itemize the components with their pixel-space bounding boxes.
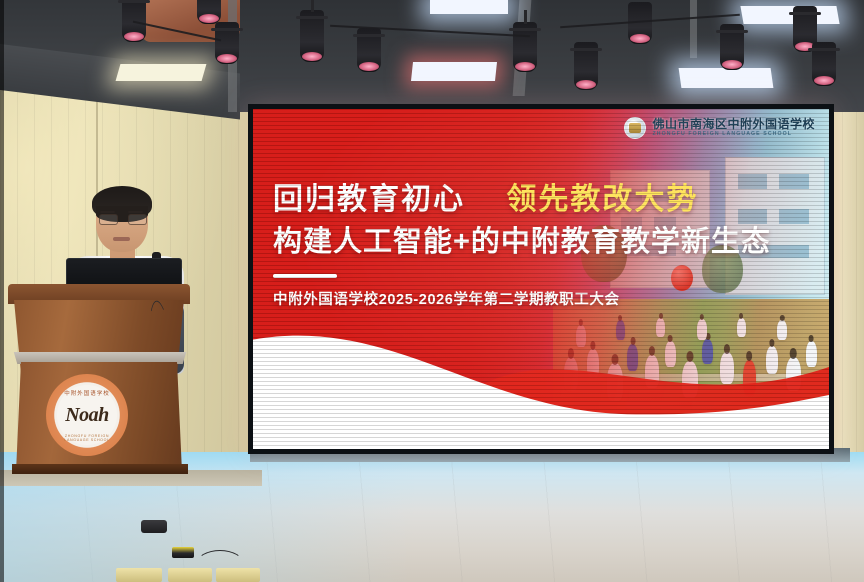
slide-title-line1-white: 回归教育初心: [273, 183, 465, 216]
stage-light-2: [215, 22, 239, 64]
school-crest-icon: [624, 117, 646, 139]
frame-left-vignette: [0, 0, 4, 582]
school-logo-text: 佛山市南海区中附外国语学校 ZHONGFU FOREIGN LANGUAGE S…: [652, 118, 815, 137]
podium-emblem: 中附外国语学校 Noah ZHONGFU FOREIGN LANGUAGE SC…: [46, 374, 128, 456]
floor-socket-box: [141, 520, 167, 533]
stage-light-yoke: [211, 28, 243, 31]
podium-emblem-brand: Noah: [65, 404, 109, 427]
school-name-en: ZHONGFU FOREIGN LANGUAGE SCHOOL: [652, 132, 815, 137]
stage-light-lens: [302, 52, 322, 61]
stage-light-lens: [576, 80, 596, 89]
stage-light-yoke: [716, 30, 748, 33]
cable-cover-strip-3: [216, 568, 260, 582]
stage-light-5: [357, 28, 381, 72]
cable-cover-strip-2: [168, 568, 212, 582]
stage-light-yoke: [118, 0, 150, 3]
screenshot-root: 佛山市南海区中附外国语学校 ZHONGFU FOREIGN LANGUAGE S…: [0, 0, 864, 582]
stage-light-lens: [630, 34, 650, 43]
stage-light-yoke: [570, 48, 602, 51]
stage-light-stem: [311, 0, 314, 12]
stage-light-7: [574, 42, 598, 90]
stage-light-11: [812, 42, 836, 86]
slide-school-logo: 佛山市南海区中附外国语学校 ZHONGFU FOREIGN LANGUAGE S…: [624, 117, 815, 139]
stage-light-yoke: [808, 48, 840, 51]
power-adapter: [172, 547, 194, 558]
panel-light-4: [679, 68, 774, 88]
podium-emblem-en: ZHONGFU FOREIGN LANGUAGE SCHOOL: [57, 434, 117, 442]
slide-divider-rule: [273, 274, 337, 278]
stage-light-9: [720, 24, 744, 70]
speaker-glasses-icon: [99, 214, 145, 223]
ceiling-beam-3: [690, 0, 697, 58]
stage-light-lens: [515, 62, 535, 71]
stage-light-lens: [814, 76, 834, 85]
stage-light-lens: [199, 14, 219, 23]
cable-cover-strip-1: [116, 568, 162, 582]
slide-subtitle: 中附外国语学校2025-2026学年第二学期教职工大会: [273, 288, 814, 309]
stage-light-lens: [217, 54, 237, 63]
speaker-mouth: [113, 237, 130, 241]
speaker-brow-right: [128, 211, 143, 213]
stage-light-yoke: [509, 28, 541, 31]
stage-light-yoke: [789, 12, 821, 15]
slide-title-line1-yellow: 领先教改大势: [506, 183, 698, 216]
slide-title-line2: 构建人工智能+的中附教育教学新生态: [273, 226, 814, 258]
stage-light-stem: [524, 10, 527, 24]
speaker-brow-left: [100, 211, 115, 213]
glasses-lens-right: [128, 214, 147, 225]
panel-light-2: [430, 0, 508, 14]
stage-light-lens: [722, 60, 742, 69]
slide-white-wave: [253, 299, 829, 449]
slide-title-block: 回归教育初心 领先教改大势 构建人工智能+的中附教育教学新生态 中附外国语学校2…: [273, 183, 814, 309]
panel-light-1: [116, 64, 207, 81]
led-screen[interactable]: 佛山市南海区中附外国语学校 ZHONGFU FOREIGN LANGUAGE S…: [253, 109, 829, 449]
led-screen-frame: 佛山市南海区中附外国语学校 ZHONGFU FOREIGN LANGUAGE S…: [248, 104, 834, 454]
podium-emblem-inner: 中附外国语学校 Noah ZHONGFU FOREIGN LANGUAGE SC…: [57, 385, 117, 445]
stage-light-6: [513, 22, 537, 72]
stage-light-4: [300, 10, 324, 62]
podium-emblem-cn: 中附外国语学校: [57, 389, 117, 397]
stage-light-3: [197, 0, 221, 24]
slide-title-line1: 回归教育初心 领先教改大势: [273, 183, 814, 217]
panel-light-5: [740, 6, 839, 24]
school-name-cn: 佛山市南海区中附外国语学校: [652, 118, 815, 130]
stage-light-lens: [124, 32, 144, 41]
panel-light-3: [411, 62, 497, 81]
stage-light-yoke: [353, 34, 385, 37]
stage-light-lens: [359, 62, 379, 71]
glasses-lens-left: [99, 214, 118, 225]
stage-light-yoke: [296, 16, 328, 19]
